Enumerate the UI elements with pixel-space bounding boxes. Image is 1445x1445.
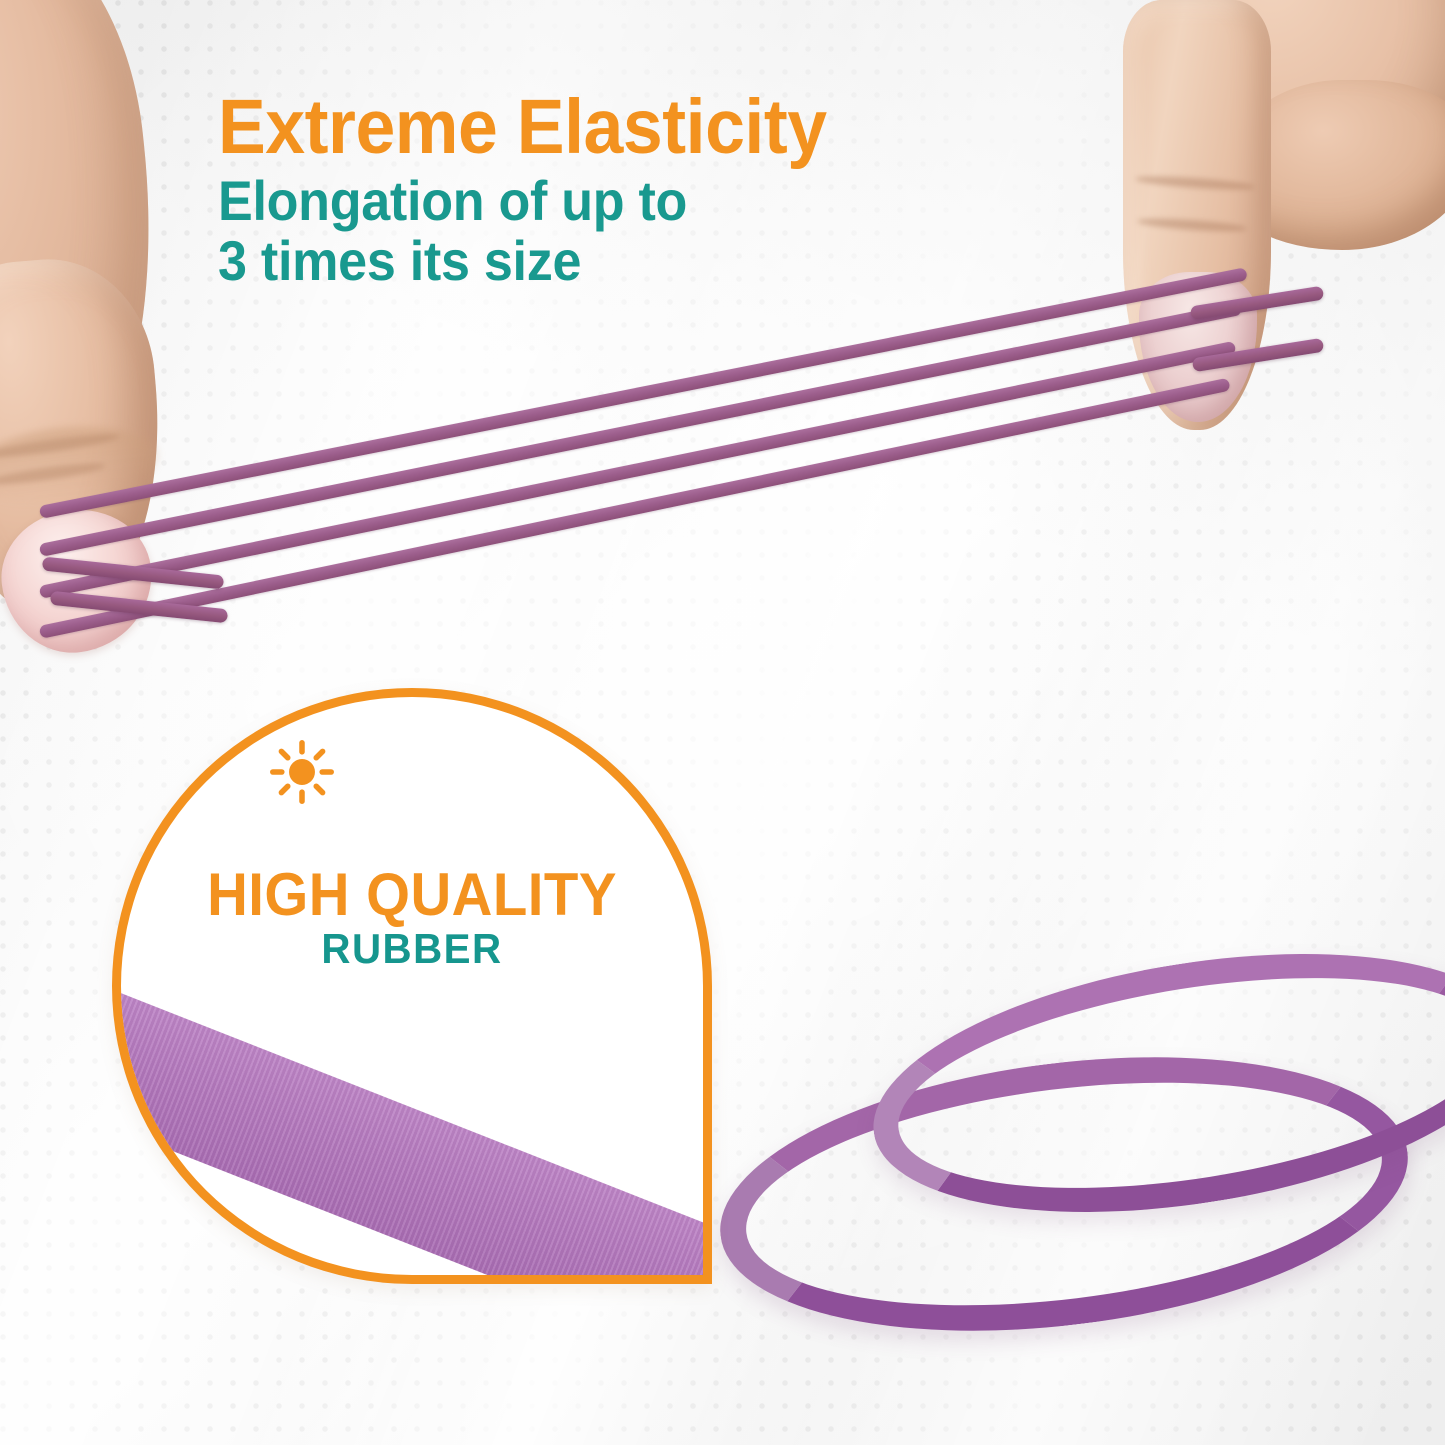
loose-rubber-band-loops <box>690 945 1445 1325</box>
headline-subtitle: Elongation of up to 3 times its size <box>218 171 1055 291</box>
stretched-band-strand-2 <box>39 302 1242 557</box>
sun-icon <box>268 738 336 806</box>
stretched-rubber-bands <box>40 268 1360 608</box>
headline-subtitle-line-1: Elongation of up to <box>218 171 1055 231</box>
page-title: Extreme Elasticity <box>218 92 1055 163</box>
infographic-canvas: Extreme Elasticity Elongation of up to 3… <box>0 0 1445 1445</box>
badge-subtitle: RUBBER <box>124 925 700 973</box>
badge-teardrop-shape <box>112 688 712 1284</box>
badge-title: HIGH QUALITY <box>130 860 694 929</box>
high-quality-badge <box>112 688 712 1284</box>
headline-block: Extreme Elasticity Elongation of up to 3… <box>218 92 1118 291</box>
headline-subtitle-line-2: 3 times its size <box>218 231 1055 291</box>
stretched-band-strand-1 <box>39 267 1248 519</box>
